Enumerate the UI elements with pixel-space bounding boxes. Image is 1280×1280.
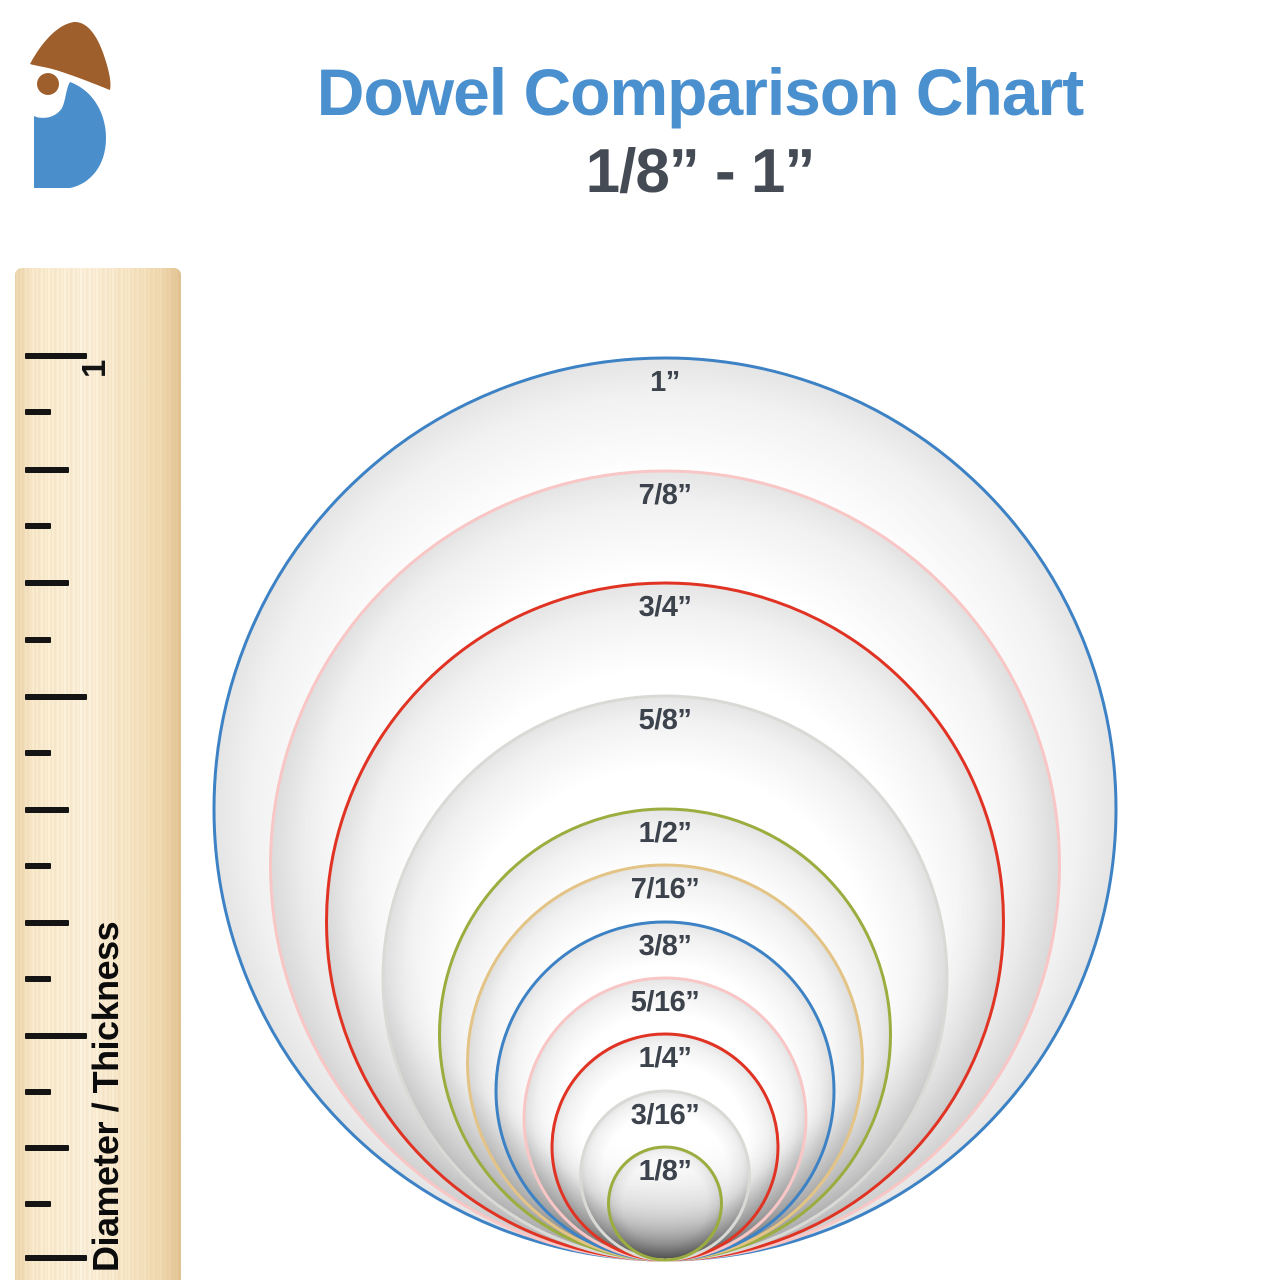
dowel-size-label: 5/16” bbox=[631, 986, 699, 1019]
dowel-circles-chart bbox=[0, 0, 1280, 1280]
dowel-comparison-chart-page: { "header": { "title": "Dowel Comparison… bbox=[0, 0, 1280, 1280]
dowel-size-label: 1/2” bbox=[639, 817, 692, 850]
dowel-size-label: 3/8” bbox=[639, 930, 692, 963]
dowel-size-label: 3/16” bbox=[631, 1099, 699, 1132]
dowel-size-label: 7/16” bbox=[631, 873, 699, 906]
dowel-size-label: 1/8” bbox=[639, 1155, 692, 1188]
dowel-size-label: 3/4” bbox=[639, 591, 692, 624]
dowel-size-label: 1” bbox=[650, 366, 680, 399]
dowel-size-label: 5/8” bbox=[639, 704, 692, 737]
dowel-size-label: 1/4” bbox=[639, 1042, 692, 1075]
dowel-size-label: 7/8” bbox=[639, 479, 692, 512]
